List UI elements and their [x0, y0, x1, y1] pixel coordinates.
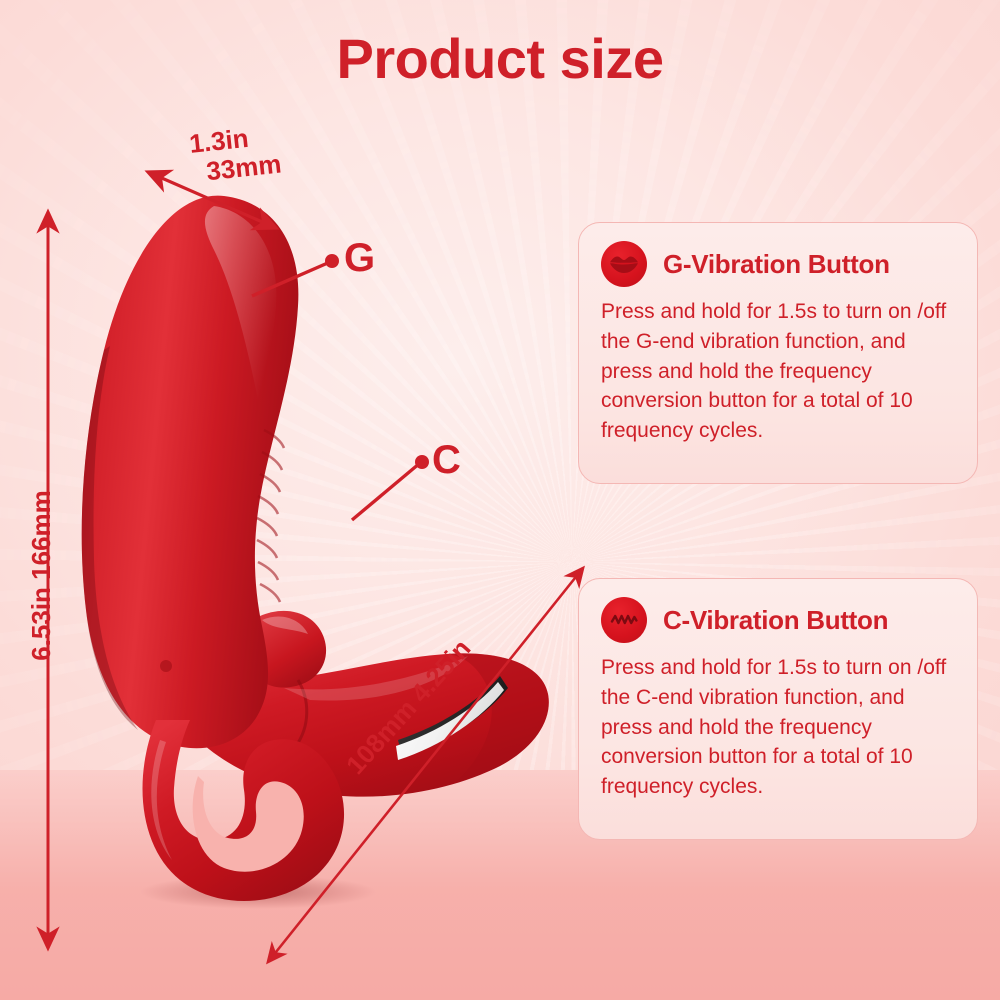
product-size-infographic: Product size	[0, 0, 1000, 1000]
card-c-header: C-Vibration Button	[601, 597, 955, 643]
callout-label-c: C	[432, 440, 461, 480]
card-g-vibration: G-Vibration Button Press and hold for 1.…	[578, 222, 978, 484]
wave-icon	[601, 597, 647, 643]
callout-label-g: G	[344, 238, 375, 278]
width-dimension-label: 1.3in 33mm	[188, 121, 283, 188]
card-c-body: Press and hold for 1.5s to turn on /off …	[601, 653, 955, 802]
card-c-vibration: C-Vibration Button Press and hold for 1.…	[578, 578, 978, 840]
page-title: Product size	[0, 26, 1000, 91]
product-illustration	[48, 180, 568, 940]
card-g-title: G-Vibration Button	[663, 249, 890, 280]
card-c-title: C-Vibration Button	[663, 605, 888, 636]
lips-icon	[601, 241, 647, 287]
card-g-header: G-Vibration Button	[601, 241, 955, 287]
card-g-body: Press and hold for 1.5s to turn on /off …	[601, 297, 955, 446]
height-dimension-label: 6.53in 166mm	[26, 490, 57, 661]
